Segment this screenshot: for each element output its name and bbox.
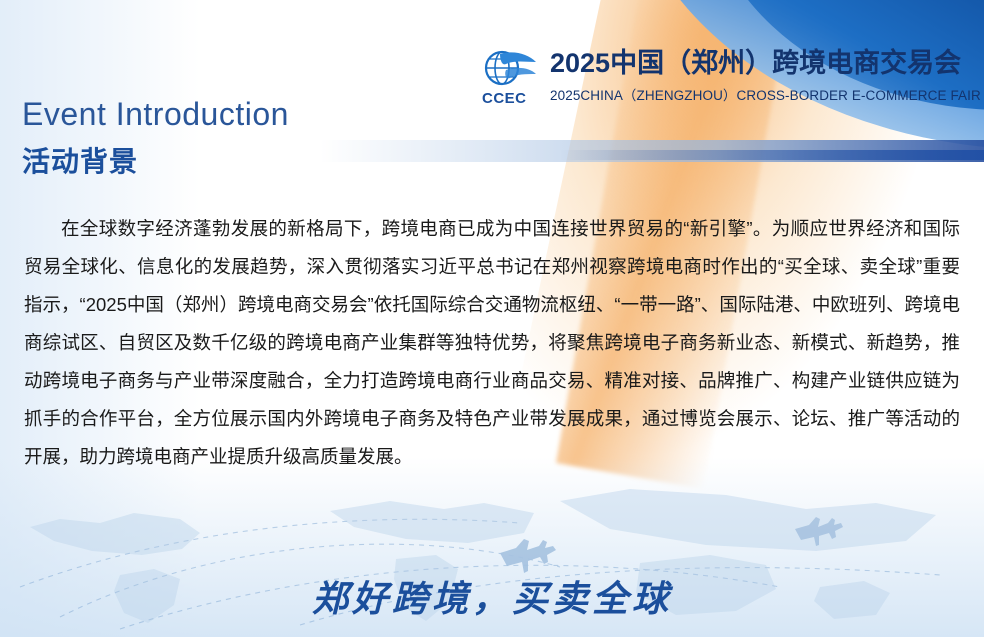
footer-slogan: 郑好跨境，买卖全球 (0, 570, 984, 622)
logo-text: 2025中国（郑州）跨境电商交易会 2025CHINA（ZHENGZHOU）CR… (550, 48, 981, 104)
page-title-english: Event Introduction (22, 96, 289, 133)
logo-title-cn: 2025中国（郑州）跨境电商交易会 (550, 48, 981, 79)
slide-page: CCEC 2025中国（郑州）跨境电商交易会 2025CHINA（ZHENGZH… (0, 0, 984, 637)
header-divider-band-accent (560, 150, 984, 160)
page-title-chinese: 活动背景 (22, 140, 138, 180)
body-paragraph: 在全球数字经济蓬勃发展的新格局下，跨境电商已成为中国连接世界贸易的“新引擎”。为… (24, 210, 960, 476)
event-logo: CCEC 2025中国（郑州）跨境电商交易会 2025CHINA（ZHENGZH… (482, 48, 981, 110)
logo-title-en: 2025CHINA（ZHENGZHOU）CROSS-BORDER E-COMME… (550, 84, 981, 104)
logo-mark: CCEC (482, 48, 540, 110)
logo-mark-text: CCEC (482, 90, 527, 107)
globe-icon (484, 48, 538, 92)
